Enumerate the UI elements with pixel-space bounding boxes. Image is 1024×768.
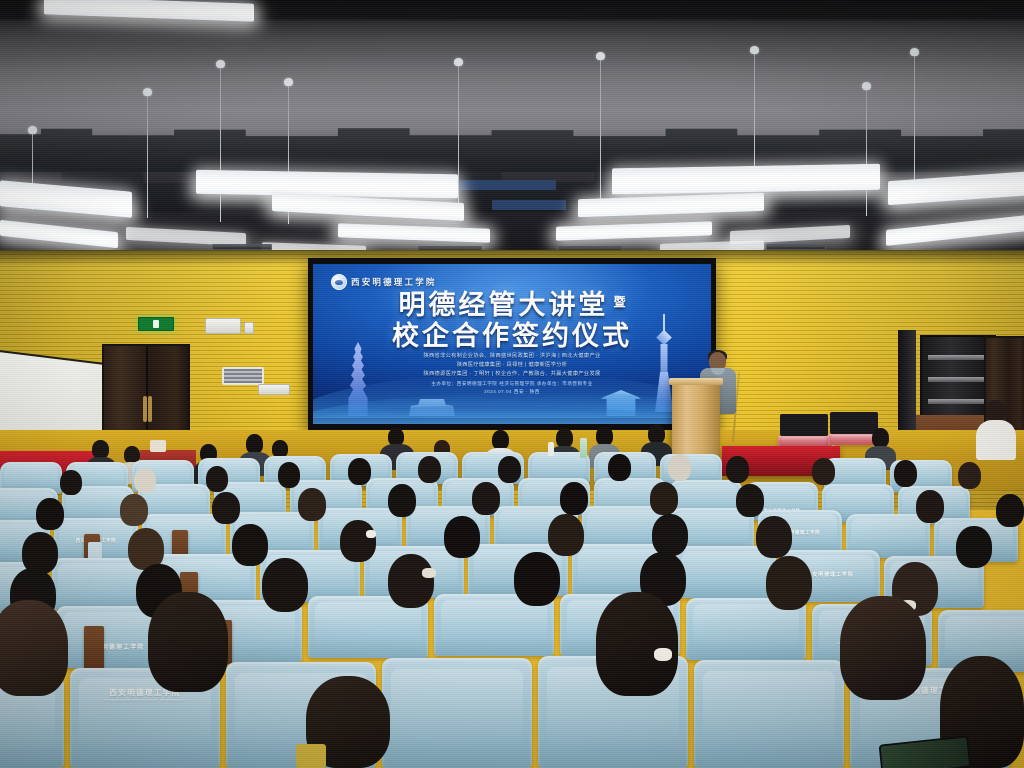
auditorium-photo: 西安明德理工学院 明德经管大讲堂暨 校企合作签约仪式 陕西省非公有制企业协会、陕…: [0, 0, 1024, 768]
paper-cup: [548, 442, 554, 456]
hanger-cap-icon: [216, 60, 225, 68]
auditorium-seat[interactable]: [694, 660, 844, 768]
light-hanger-wire: [147, 92, 148, 218]
paper-stack: [150, 440, 166, 452]
hanger-cap-icon: [28, 126, 37, 134]
light-hanger-wire: [220, 64, 221, 222]
door-handle-icon[interactable]: [148, 396, 152, 422]
running-man-icon: [153, 320, 159, 328]
screen-logo-text: 西安明德理工学院: [351, 276, 437, 288]
light-hanger-wire: [458, 62, 459, 210]
hair-clip: [422, 568, 436, 578]
seat-tablet-arm[interactable]: [84, 626, 104, 670]
ceiling-light-fixture: [612, 164, 880, 195]
hanger-cap-icon: [596, 52, 605, 60]
light-hanger-wire: [600, 56, 601, 206]
rack-shelf: [928, 399, 988, 404]
rack-shelf: [928, 377, 988, 382]
light-hanger-wire: [866, 86, 867, 216]
hanger-cap-icon: [143, 88, 152, 96]
hanger-cap-icon: [910, 48, 919, 56]
hair-clip: [366, 530, 376, 538]
wall-control-panel[interactable]: [205, 318, 241, 334]
ceiling-blue-strip: [452, 180, 556, 190]
screen-institution-logo: 西安明德理工学院: [331, 274, 437, 290]
led-screen-frame: 西安明德理工学院 明德经管大讲堂暨 校企合作签约仪式 陕西省非公有制企业协会、陕…: [308, 258, 716, 430]
led-screen: 西安明德理工学院 明德经管大讲堂暨 校企合作签约仪式 陕西省非公有制企业协会、陕…: [313, 264, 711, 424]
hanger-cap-icon: [284, 78, 293, 86]
hanger-cap-icon: [862, 82, 871, 90]
ac-grille: [222, 367, 264, 385]
water-bottle: [580, 438, 587, 458]
lectern: [672, 378, 720, 464]
seat-logo-en: XI'AN MINGDE INSTITUTE OF TECHNOLOGY: [70, 698, 220, 702]
screen-subtitle-line: 陕西医疗健康集团 · 段禄桂 | 健康新医学分析: [313, 361, 711, 370]
door-handle-icon[interactable]: [143, 396, 147, 422]
ceiling-light-fixture: [196, 170, 458, 199]
screen-subtitle: 陕西省非公有制企业协会、陕西盛世民政集团 · 洪沪海 | 西北大健康产业 陕西医…: [313, 352, 711, 379]
screen-title-line2: 校企合作签约仪式: [313, 321, 711, 351]
ceiling-blue-strip: [492, 200, 566, 210]
screen-title-line1: 明德经管大讲堂: [398, 290, 608, 320]
screen-subtitle-line: 陕西德源医疗集团 · 丁明轩 | 校企合作、产教融合、共赢大健康产业发展: [313, 370, 711, 379]
handheld-object: [296, 744, 326, 768]
university-crest-icon: [331, 274, 347, 290]
hair-tie: [654, 648, 672, 661]
screen-title-suffix: 暨: [613, 295, 625, 309]
auditorium-seat[interactable]: [382, 658, 532, 768]
screen-subtitle-line: 陕西省非公有制企业协会、陕西盛世民政集团 · 洪沪海 | 西北大健康产业: [313, 352, 711, 361]
screen-organizer-line: 主办单位：西安明德理工学院 经济与管理学院 承办单位：市场营销专业: [313, 380, 711, 388]
wall-switch[interactable]: [244, 322, 254, 334]
screen-title: 明德经管大讲堂暨 校企合作签约仪式: [313, 290, 711, 351]
wall-sensor: [258, 384, 290, 395]
rack-shelf: [928, 355, 988, 360]
screen-date-line: 2024.07.04 西安 · 陕西: [313, 388, 711, 396]
screen-organizer-block: 主办单位：西安明德理工学院 经济与管理学院 承办单位：市场营销专业 2024.0…: [313, 380, 711, 397]
hanger-cap-icon: [750, 46, 759, 54]
equipment-rack-door[interactable]: [898, 330, 916, 436]
hanger-cap-icon: [454, 58, 463, 66]
exit-sign: [138, 317, 174, 331]
